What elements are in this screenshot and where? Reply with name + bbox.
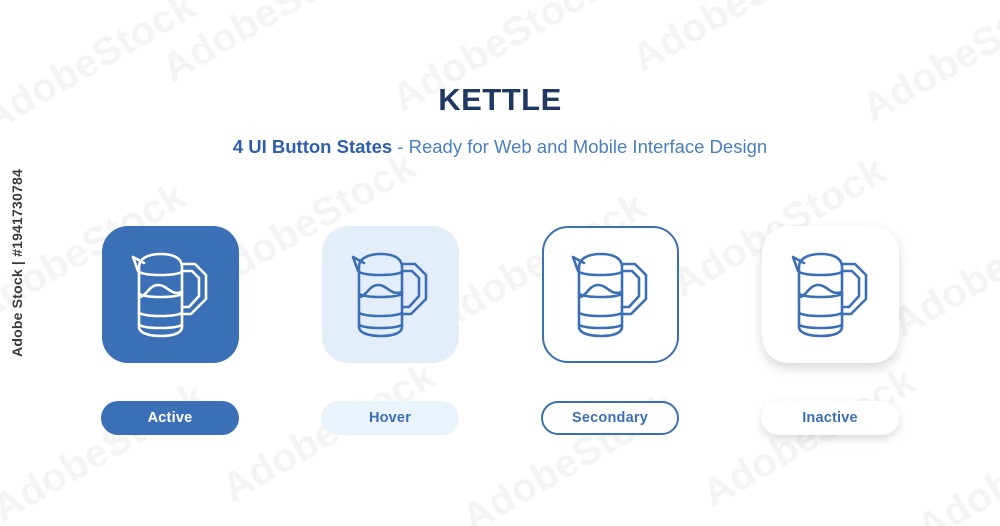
button-states-row: Active Hover — [0, 226, 1000, 435]
stock-credit-watermark: Adobe Stock | #1941730784 — [4, 0, 30, 526]
kettle-icon — [567, 247, 653, 343]
state-label-secondary[interactable]: Secondary — [541, 401, 679, 435]
page-subtitle: 4 UI Button States - Ready for Web and M… — [0, 115, 1000, 157]
icon-card-hover[interactable] — [322, 226, 459, 363]
state-secondary: Secondary — [541, 226, 679, 435]
page-title: KETTLE — [0, 0, 1000, 115]
header: KETTLE 4 UI Button States - Ready for We… — [0, 0, 1000, 157]
icon-card-secondary[interactable] — [542, 226, 679, 363]
state-inactive: Inactive — [761, 226, 899, 435]
kettle-icon — [787, 247, 873, 343]
subtitle-strong: 4 UI Button States — [233, 136, 392, 157]
state-label-inactive[interactable]: Inactive — [761, 401, 899, 435]
kettle-icon — [347, 247, 433, 343]
icon-card-active[interactable] — [102, 226, 239, 363]
state-label-hover[interactable]: Hover — [321, 401, 459, 435]
stock-credit-text: Adobe Stock | #1941730784 — [9, 169, 25, 357]
icon-card-inactive[interactable] — [762, 226, 899, 363]
state-hover: Hover — [321, 226, 459, 435]
state-active: Active — [101, 226, 239, 435]
kettle-icon — [127, 247, 213, 343]
state-label-active[interactable]: Active — [101, 401, 239, 435]
subtitle-rest: - Ready for Web and Mobile Interface Des… — [392, 136, 767, 157]
